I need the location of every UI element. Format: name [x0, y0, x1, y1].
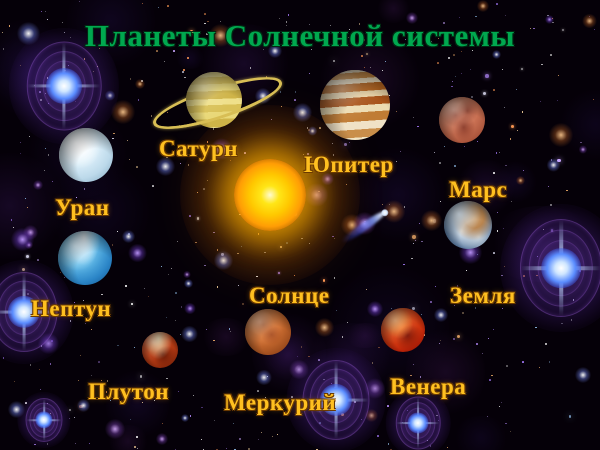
- page-title: Планеты Солнечной системы: [0, 18, 600, 54]
- burst-ring: [529, 230, 593, 307]
- body-sun: [234, 159, 306, 231]
- burst-ring: [35, 51, 94, 121]
- burst-halo: [17, 392, 70, 448]
- burst-ring: [520, 219, 600, 317]
- burst-halo: [500, 204, 600, 332]
- burst-ray-horizontal: [521, 266, 600, 270]
- burst-ring: [405, 408, 431, 439]
- solar-system-slide: СолнцеМеркурийВенераЗемляМарсЮпитерСатур…: [0, 0, 600, 450]
- burst-core: [35, 411, 52, 428]
- body-mercury: [245, 309, 291, 355]
- burst-ray-vertical: [559, 220, 563, 316]
- star-burst-bottom-left-icon: [16, 392, 72, 448]
- specular-highlight: [58, 231, 112, 285]
- label-venus: Венера: [390, 374, 466, 400]
- burst-ring: [27, 42, 102, 131]
- specular-highlight: [439, 97, 485, 143]
- burst-ray-vertical: [23, 273, 26, 351]
- burst-ring: [33, 407, 55, 433]
- burst-core: [46, 68, 82, 104]
- label-jupiter: Юпитер: [304, 152, 394, 178]
- star-burst-right-icon: [497, 204, 600, 332]
- burst-ray-vertical: [62, 43, 65, 130]
- burst-ray-horizontal: [27, 419, 62, 421]
- body-venus: [381, 308, 425, 352]
- specular-highlight: [59, 128, 113, 182]
- burst-ray-vertical: [43, 399, 45, 441]
- burst-ring: [43, 61, 86, 112]
- label-uranus: Уран: [55, 195, 110, 221]
- burst-ring: [26, 398, 63, 442]
- burst-core: [541, 248, 581, 288]
- label-earth: Земля: [450, 283, 516, 309]
- body-jupiter: [320, 70, 390, 140]
- comet-icon: [340, 209, 387, 245]
- specular-highlight: [320, 70, 390, 140]
- specular-highlight: [444, 201, 492, 249]
- burst-core: [407, 412, 428, 433]
- body-pluto: [142, 332, 178, 368]
- label-mars: Марс: [449, 177, 507, 203]
- burst-ray-vertical: [417, 398, 419, 449]
- burst-ring: [400, 402, 435, 444]
- label-saturn: Сатурн: [159, 136, 238, 162]
- specular-highlight: [142, 332, 178, 368]
- burst-ray-horizontal: [397, 422, 440, 424]
- label-pluto: Плутон: [88, 379, 169, 405]
- specular-highlight: [381, 308, 425, 352]
- burst-ring: [396, 397, 441, 450]
- label-sun: Солнце: [249, 283, 329, 309]
- body-mars: [439, 97, 485, 143]
- body-uranus: [59, 128, 113, 182]
- label-neptune: Нептун: [31, 296, 111, 322]
- body-neptune: [58, 231, 112, 285]
- label-mercury: Меркурий: [224, 390, 336, 416]
- burst-ring: [538, 240, 585, 296]
- comet-tail: [340, 209, 387, 245]
- burst-ray-horizontal: [28, 84, 101, 87]
- burst-ring: [29, 403, 58, 438]
- specular-highlight: [245, 309, 291, 355]
- body-earth: [444, 201, 492, 249]
